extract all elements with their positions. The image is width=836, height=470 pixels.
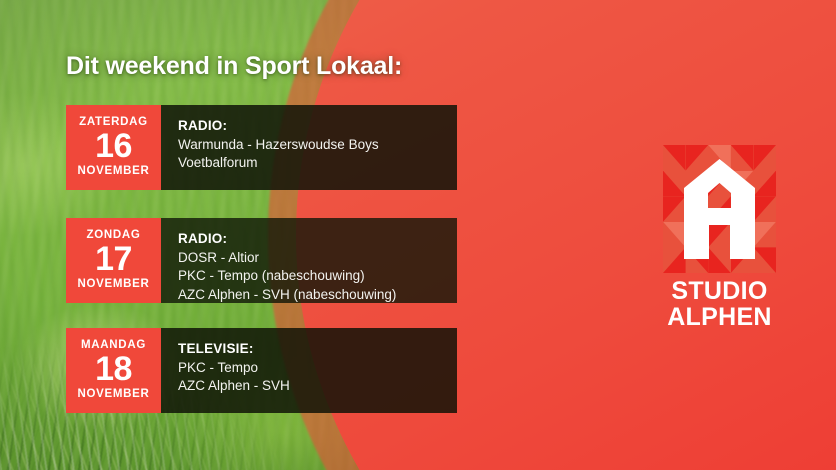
card-details: RADIO: Warmunda - Hazerswoudse Boys Voet… [161,105,457,190]
logo-triangle-tile [663,222,686,248]
logo-triangle-tile [686,171,709,197]
logo-triangle-tile [686,222,709,248]
logo-word-studio: STUDIO [663,279,776,305]
logo-triangle-tile [731,247,754,273]
logo-triangle-tile [731,196,754,222]
card-details: RADIO: DOSR - Altior PKC - Tempo (nabesc… [161,218,457,303]
logo-triangle-tile [708,145,731,171]
date-badge: ZATERDAG 16 NOVEMBER [66,105,161,190]
media-type-label: TELEVISIE: [178,340,443,358]
date-month: NOVEMBER [77,389,149,401]
logo-triangle-tile [663,196,686,222]
program-line: PKC - Tempo (nabeschouwing) [178,267,443,285]
date-month: NOVEMBER [77,166,149,178]
program-line: Voetbalforum [178,154,443,172]
logo-triangle-tile [753,196,776,222]
studio-alphen-logo: STUDIO ALPHEN [663,145,776,331]
media-type-label: RADIO: [178,117,443,135]
date-number: 16 [95,129,132,164]
schedule-card: ZONDAG 17 NOVEMBER RADIO: DOSR - Altior … [66,218,457,303]
schedule-card: MAANDAG 18 NOVEMBER TELEVISIE: PKC - Tem… [66,328,457,413]
logo-triangle-tile [686,247,709,273]
logo-triangle-tile [708,171,731,197]
logo-triangle-tile [731,222,754,248]
program-line: AZC Alphen - SVH [178,377,443,395]
date-number: 18 [95,352,132,387]
logo-triangle-pattern [663,145,776,273]
date-badge: ZONDAG 17 NOVEMBER [66,218,161,303]
program-line: DOSR - Altior [178,249,443,267]
card-details: TELEVISIE: PKC - Tempo AZC Alphen - SVH [161,328,457,413]
logo-triangle-tile [663,145,686,171]
logo-triangle-tile [753,247,776,273]
schedule-card: ZATERDAG 16 NOVEMBER RADIO: Warmunda - H… [66,105,457,190]
logo-triangle-tile [753,222,776,248]
media-type-label: RADIO: [178,230,443,248]
logo-word-alphen: ALPHEN [663,305,776,331]
program-line: AZC Alphen - SVH (nabeschouwing) [178,286,443,303]
date-month: NOVEMBER [77,279,149,291]
logo-a-mark-icon [663,145,776,273]
logo-triangle-tile [731,171,754,197]
page-title: Dit weekend in Sport Lokaal: [66,52,402,81]
program-line: PKC - Tempo [178,359,443,377]
logo-triangle-tile [708,247,731,273]
logo-triangle-tile [708,222,731,248]
logo-triangle-tile [686,145,709,171]
logo-triangle-tile [663,247,686,273]
date-number: 17 [95,242,132,277]
logo-triangle-tile [663,171,686,197]
poster-canvas: Dit weekend in Sport Lokaal: ZATERDAG 16… [0,0,836,470]
program-line: Warmunda - Hazerswoudse Boys [178,136,443,154]
logo-triangle-tile [753,171,776,197]
date-badge: MAANDAG 18 NOVEMBER [66,328,161,413]
logo-triangle-tile [731,145,754,171]
logo-triangle-tile [708,196,731,222]
logo-triangle-tile [686,196,709,222]
logo-triangle-tile [753,145,776,171]
